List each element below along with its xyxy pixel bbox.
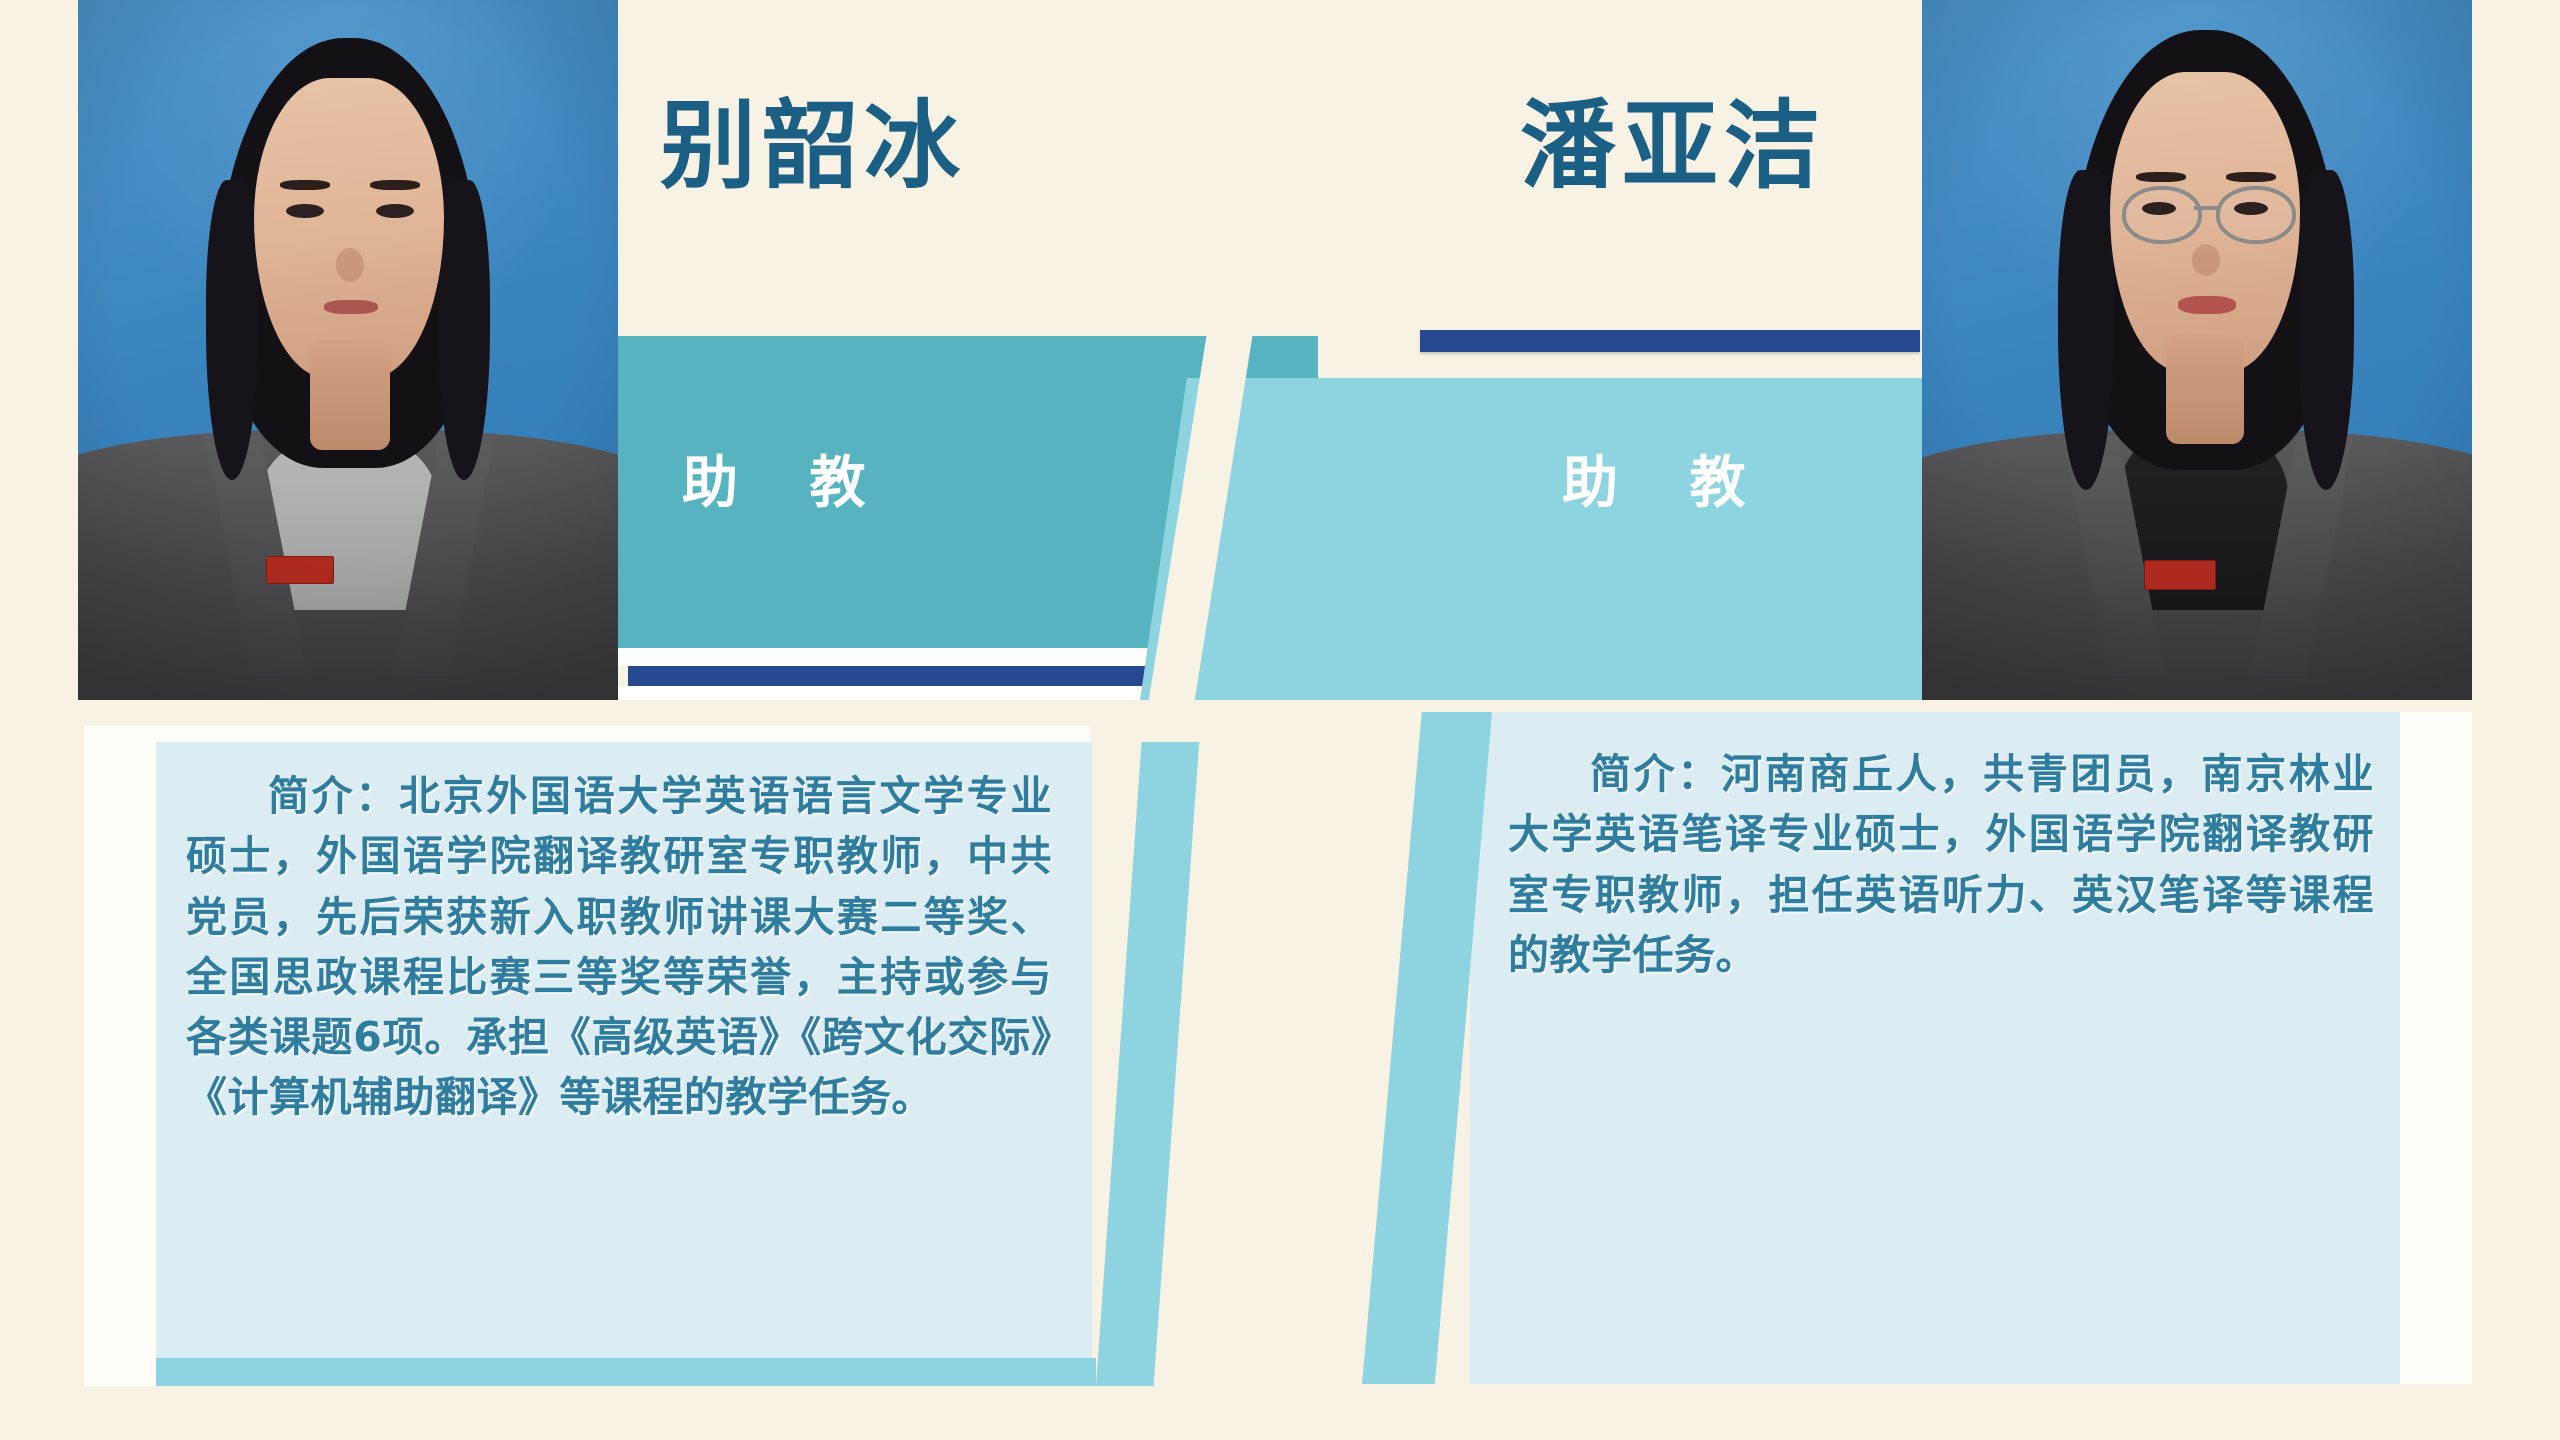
portrait-photo-left	[78, 0, 618, 700]
middle-diagonal-stripe	[1148, 326, 1368, 704]
portrait-photo-right	[1922, 0, 2472, 700]
bio-accent-slant-left	[1096, 742, 1216, 1386]
bottom-cream-strip	[0, 1386, 2560, 1440]
photo-vignette-left	[78, 0, 618, 700]
bio-text-right: 简介：河南商丘人，共青团员，南京林业大学英语笔译专业硕士，外国语学院翻译教研室专…	[1508, 744, 2374, 985]
role-banner-right-navy-rule	[1420, 330, 1920, 352]
role-label-left: 助 教	[682, 438, 892, 519]
bio-underline-left	[156, 1358, 1096, 1386]
photo-vignette-right	[1922, 0, 2472, 700]
role-label-right: 助 教	[1562, 438, 1772, 519]
bio-text-left: 简介：北京外国语大学英语语言文学专业硕士，外国语学院翻译教研室专职教师，中共党员…	[186, 766, 1052, 1128]
teacher-name-right: 潘亚洁	[1520, 98, 1826, 194]
slide-canvas: 别韶冰 潘亚洁 助 教 助 教 简介：北京外国语大学英语语言文学专业硕士，外国语…	[0, 0, 2560, 1440]
role-banner-right-fill	[1350, 378, 1922, 700]
teacher-name-left: 别韶冰	[660, 98, 966, 194]
